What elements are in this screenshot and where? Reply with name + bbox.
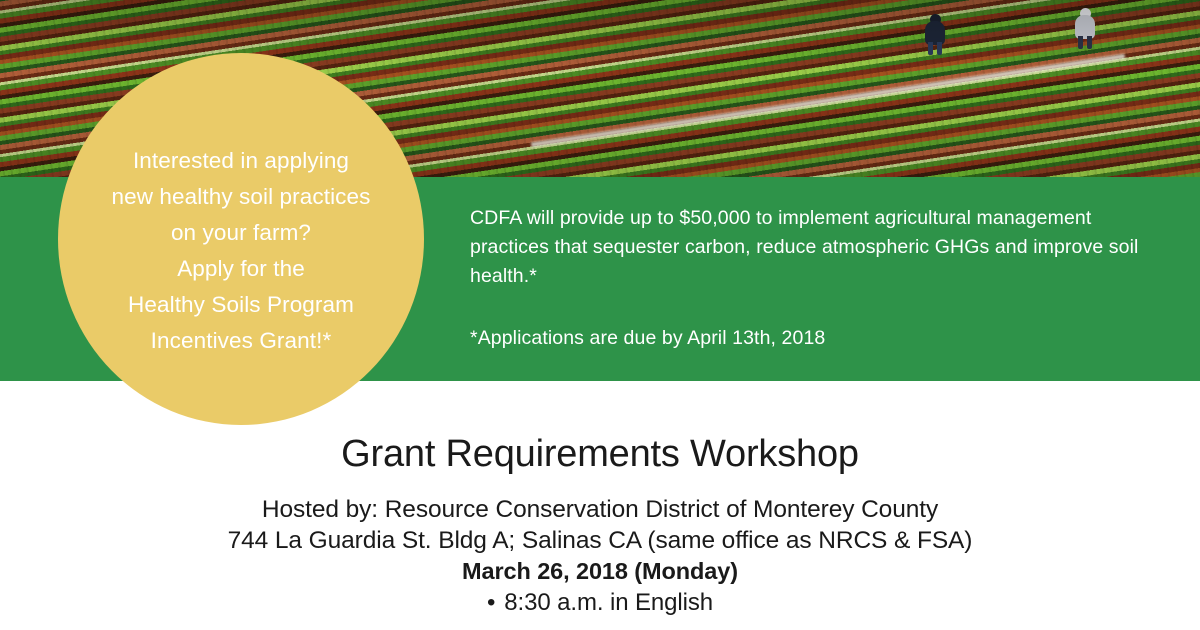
circle-line-4: Apply for the bbox=[76, 251, 406, 287]
circle-line-3: on your farm? bbox=[76, 215, 406, 251]
workshop-host-line: Hosted by: Resource Conservation Distric… bbox=[0, 494, 1200, 525]
workshop-session-english: •8:30 a.m. in English bbox=[0, 587, 1200, 618]
circle-line-1: Interested in applying bbox=[76, 143, 406, 179]
workshop-address-line: 744 La Guardia St. Bldg A; Salinas CA (s… bbox=[0, 525, 1200, 556]
circle-line-2: new healthy soil practices bbox=[76, 179, 406, 215]
workshop-session-english-label: 8:30 a.m. in English bbox=[504, 589, 713, 616]
banner-copy-block: CDFA will provide up to $50,000 to imple… bbox=[470, 204, 1170, 353]
workshop-details-section: Grant Requirements Workshop Hosted by: R… bbox=[0, 430, 1200, 618]
circle-line-5: Healthy Soils Program bbox=[76, 287, 406, 323]
yellow-circle-callout: Interested in applying new healthy soil … bbox=[58, 53, 424, 425]
circle-callout-text: Interested in applying new healthy soil … bbox=[76, 143, 406, 359]
workshop-title: Grant Requirements Workshop bbox=[0, 430, 1200, 478]
grant-description-paragraph: CDFA will provide up to $50,000 to imple… bbox=[470, 204, 1170, 291]
healthy-soils-workshop-flyer: CDFA will provide up to $50,000 to imple… bbox=[0, 0, 1200, 630]
application-deadline-note: *Applications are due by April 13th, 201… bbox=[470, 324, 1170, 353]
circle-line-6: Incentives Grant!* bbox=[76, 323, 406, 359]
workshop-date-line: March 26, 2018 (Monday) bbox=[0, 556, 1200, 587]
bullet-icon: • bbox=[487, 589, 495, 616]
